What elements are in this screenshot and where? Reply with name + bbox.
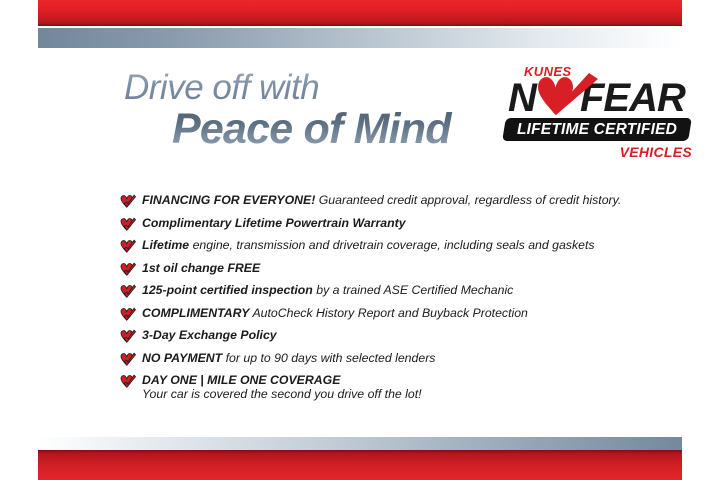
feature-item: Lifetime engine, transmission and drivet… [120,237,680,255]
feature-item: 125-point certified inspection by a trai… [120,282,680,300]
feature-text: NO PAYMENT for up to 90 days with select… [142,350,435,366]
check-icon [120,284,136,298]
feature-text-strong: 1st oil change FREE [142,261,260,275]
header: Drive off with Peace of Mind KUNES N FEA… [0,56,720,181]
feature-text: FINANCING FOR EVERYONE! Guaranteed credi… [142,192,621,208]
feature-text-strong: FINANCING FOR EVERYONE! [142,193,315,207]
feature-text-rest: AutoCheck History Report and Buyback Pro… [249,306,527,320]
feature-text-rest: engine, transmission and drivetrain cove… [189,238,594,252]
red-check-icon [120,374,136,388]
check-icon [120,374,136,388]
feature-text-rest: by a trained ASE Certified Mechanic [313,283,514,297]
logo-no-fear-wordmark: N FEAR [504,77,690,119]
feature-item: NO PAYMENT for up to 90 days with select… [120,350,680,368]
red-check-icon [120,194,136,208]
logo-certified-banner: LIFETIME CERTIFIED [502,118,692,141]
red-check-icon [120,307,136,321]
headline-line-1: Drive off with [124,70,504,105]
feature-item: DAY ONE | MILE ONE COVERAGEYour car is c… [120,372,680,406]
feature-item: FINANCING FOR EVERYONE! Guaranteed credi… [120,192,680,210]
kunes-no-fear-logo: KUNES N FEAR LIFETIME CERTIFIED VEHICLES [498,64,693,169]
bottom-red-bar [38,450,682,480]
red-check-icon [120,284,136,298]
feature-text-strong: 3-Day Exchange Policy [142,328,277,342]
red-check-icon [120,352,136,366]
feature-text-strong: 125-point certified inspection [142,283,313,297]
headline: Drive off with Peace of Mind [124,70,504,152]
feature-text: 3-Day Exchange Policy [142,327,277,343]
check-icon [120,194,136,208]
top-gray-bar [38,28,682,48]
logo-vehicles-text: VEHICLES [620,144,692,160]
feature-subtext: Your car is covered the second you drive… [142,386,422,402]
feature-item: Complimentary Lifetime Powertrain Warran… [120,215,680,233]
feature-list: FINANCING FOR EVERYONE! Guaranteed credi… [120,192,680,411]
headline-line-2: Peace of Mind [124,107,504,152]
feature-text-strong: NO PAYMENT [142,351,222,365]
promo-banner: Drive off with Peace of Mind KUNES N FEA… [0,0,720,480]
check-icon [120,329,136,343]
red-check-heart-icon [534,71,602,123]
feature-item: COMPLIMENTARY AutoCheck History Report a… [120,305,680,323]
feature-text-strong: DAY ONE | MILE ONE COVERAGE [142,373,340,387]
check-icon [120,217,136,231]
feature-text: 125-point certified inspection by a trai… [142,282,513,298]
red-check-icon [120,217,136,231]
check-icon [120,307,136,321]
feature-text-strong: Complimentary Lifetime Powertrain Warran… [142,216,406,230]
logo-banner-text: LIFETIME CERTIFIED [504,118,690,141]
check-icon [120,239,136,253]
logo-letter-n: N [508,77,536,119]
feature-text-rest: Guaranteed credit approval, regardless o… [315,193,621,207]
feature-item: 3-Day Exchange Policy [120,327,680,345]
feature-text: COMPLIMENTARY AutoCheck History Report a… [142,305,528,321]
feature-text-rest: for up to 90 days with selected lenders [222,351,435,365]
red-check-icon [120,262,136,276]
check-icon [120,262,136,276]
feature-text: Complimentary Lifetime Powertrain Warran… [142,215,406,231]
check-icon [120,352,136,366]
feature-item: 1st oil change FREE [120,260,680,278]
feature-text-strong: COMPLIMENTARY [142,306,249,320]
red-check-icon [120,329,136,343]
feature-text-strong: Lifetime [142,238,189,252]
feature-text: Lifetime engine, transmission and drivet… [142,237,595,253]
feature-text: 1st oil change FREE [142,260,260,276]
red-check-icon [120,239,136,253]
top-red-bar [38,0,682,26]
